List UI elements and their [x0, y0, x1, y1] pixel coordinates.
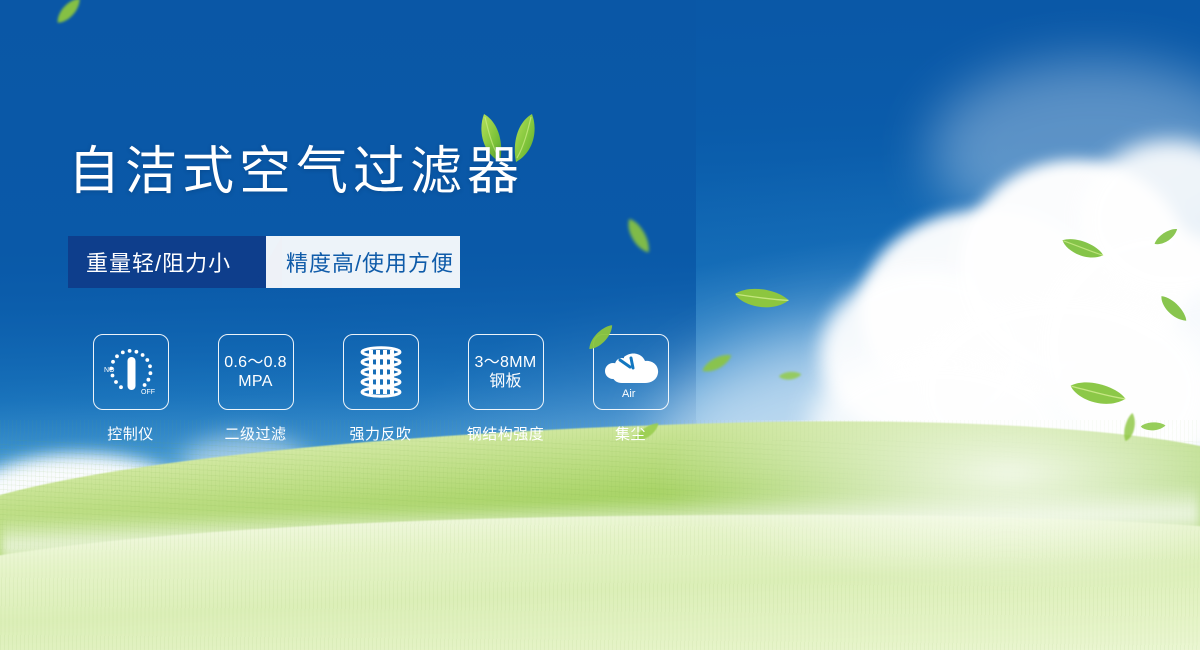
page-title: 自洁式空气过滤器 — [68, 146, 524, 198]
pressure-text-icon: 0.6～0.8 MPA — [224, 353, 287, 391]
subtitle-right-panel: 精度高/使用方便 — [266, 236, 460, 288]
subtitle-right-text: 精度高/使用方便 — [272, 246, 454, 278]
feature-label: 二级过滤 — [224, 423, 286, 444]
filter-cartridge-icon — [355, 344, 407, 400]
subtitle-bar: 重量轻/阻力小 精度高/使用方便 — [68, 236, 460, 288]
feature-item-control-dial[interactable]: NO OFF 控制仪 — [68, 334, 193, 444]
feature-item-steel[interactable]: 3～8MM 钢板 钢结构强度 — [443, 334, 568, 444]
feature-icon-box: 0.6～0.8 MPA — [218, 334, 294, 410]
air-cloud-icon: Air — [600, 343, 662, 401]
feature-label: 强力反吹 — [349, 423, 411, 444]
feature-item-pressure[interactable]: 0.6～0.8 MPA 二级过滤 — [193, 334, 318, 444]
feature-icon-box: NO OFF — [93, 334, 169, 410]
feature-item-dust[interactable]: Air 集尘 — [568, 334, 693, 444]
grass-sunlight — [420, 420, 1200, 620]
control-dial-icon: NO OFF — [100, 344, 162, 400]
steel-plate-text-icon: 3～8MM 钢板 — [475, 353, 537, 391]
product-banner: 自洁式空气过滤器 重量轻/阻力小 精度高/使用方便 — [0, 0, 1200, 650]
grass-field — [0, 420, 1200, 650]
feature-icon-box: Air — [593, 334, 669, 410]
subtitle-left-text: 重量轻/阻力小 — [86, 246, 231, 278]
feature-label: 钢结构强度 — [467, 423, 545, 444]
feature-icon-box: 3～8MM 钢板 — [468, 334, 544, 410]
dial-on-label: NO — [104, 367, 115, 374]
dial-off-label: OFF — [141, 389, 155, 396]
feature-label: 控制仪 — [107, 423, 154, 444]
cloud-air-caption: Air — [622, 388, 636, 400]
feature-icon-box — [343, 334, 419, 410]
feature-label: 集尘 — [615, 423, 646, 444]
subtitle-left-panel: 重量轻/阻力小 — [68, 236, 266, 288]
feature-item-backblow[interactable]: 强力反吹 — [318, 334, 443, 444]
feature-list: NO OFF 控制仪 0.6～0.8 MPA 二级过滤 — [68, 334, 693, 444]
